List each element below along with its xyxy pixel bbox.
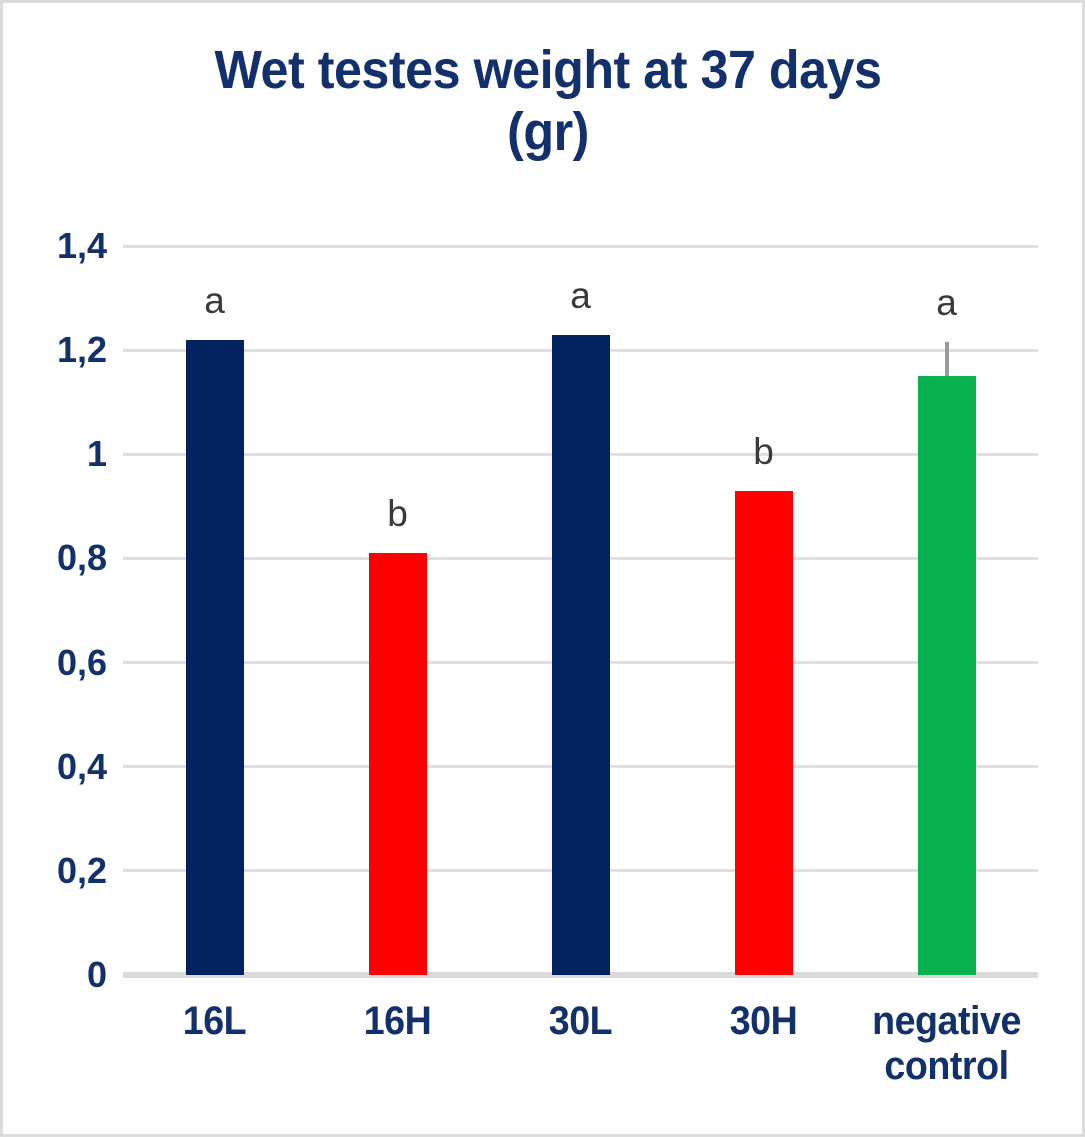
bar-30H[interactable] — [735, 491, 793, 975]
gridline — [123, 245, 1038, 248]
bar-30L[interactable] — [552, 335, 610, 975]
y-axis-labels: 1,41,210,80,60,40,20 — [3, 246, 107, 975]
x-axis-label-16L: 16L — [128, 999, 300, 1044]
error-bar — [945, 342, 949, 376]
y-axis-tick-label: 0,6 — [3, 645, 107, 681]
bar-16H[interactable] — [369, 553, 427, 975]
y-axis-tick-label: 0,2 — [3, 853, 107, 889]
bar-negative-control[interactable] — [918, 376, 976, 975]
x-axis-label-16H: 16H — [311, 999, 483, 1044]
y-axis-tick-label: 1 — [3, 436, 107, 472]
x-axis-label-negative-control: negative control — [860, 999, 1032, 1089]
significance-label: b — [358, 495, 438, 532]
chart-canvas: Wet testes weight at 37 days (gr) 1,41,2… — [0, 0, 1085, 1137]
x-axis-labels: 16L16H30L30Hnegative control — [123, 999, 1038, 1129]
y-axis-tick-label: 0,4 — [3, 749, 107, 785]
significance-label: b — [724, 433, 804, 470]
chart-title: Wet testes weight at 37 days (gr) — [181, 39, 916, 163]
y-axis-tick-label: 0,8 — [3, 540, 107, 576]
bar-16L[interactable] — [186, 340, 244, 975]
x-axis-label-30H: 30H — [677, 999, 849, 1044]
significance-label: a — [541, 277, 621, 314]
significance-label: a — [907, 284, 987, 321]
plot-area: ababa — [123, 246, 1038, 975]
significance-label: a — [175, 282, 255, 319]
x-axis-label-30L: 30L — [494, 999, 666, 1044]
y-axis-tick-label: 1,4 — [3, 228, 107, 264]
y-axis-tick-label: 1,2 — [3, 332, 107, 368]
y-axis-tick-label: 0 — [3, 957, 107, 993]
